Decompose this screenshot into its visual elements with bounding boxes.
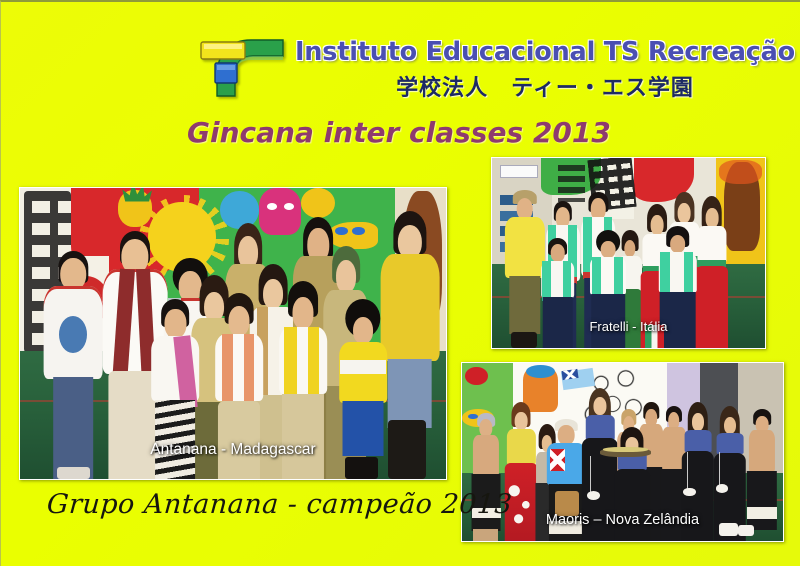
photo-fratelli-italia[interactable]: Fratelli - Itália [491,157,766,349]
photo-fratelli-scene [492,158,765,348]
header-text-block: Instituto Educacional TS Recreação 学校法人 … [295,34,795,102]
ts-swoosh-logo-icon [197,34,289,104]
event-title: Gincana inter classes 2013 [187,116,611,149]
photo-antanana-scene [20,188,446,479]
photo-antanana-madagascar[interactable]: Antanana - Madagascar [19,187,447,480]
poster-page: Instituto Educacional TS Recreação 学校法人 … [0,0,800,566]
school-name: Instituto Educacional TS Recreação [295,37,795,67]
school-name-japanese: 学校法人 ティー・エス学園 [295,70,795,102]
winner-caption: Grupo Antanana - campeão 2013 [46,489,513,520]
header: Instituto Educacional TS Recreação 学校法人 … [197,34,717,110]
